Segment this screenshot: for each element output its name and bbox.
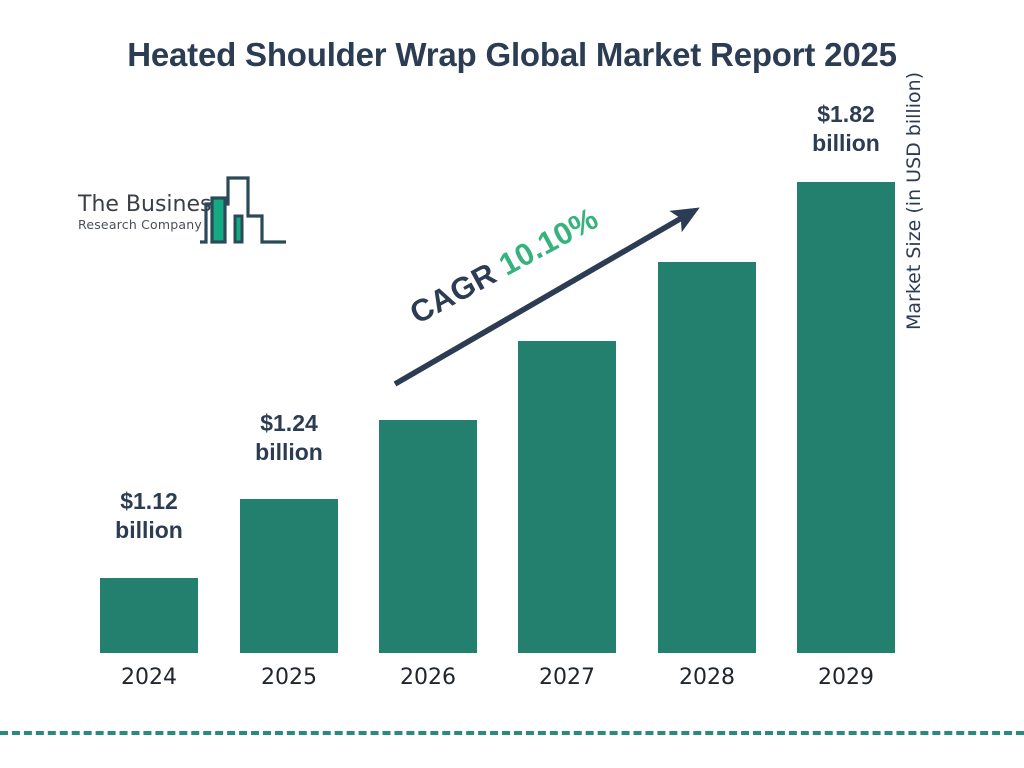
y-axis-title: Market Size (in USD billion) <box>903 0 925 330</box>
logo-line-2: Research Company <box>78 219 206 232</box>
cagr-value: 10.10% <box>493 201 604 283</box>
bar-chart-logo-mark-icon <box>198 176 288 253</box>
bar-value-label-2029: $1.82 billion <box>786 100 906 159</box>
x-axis-label-2028: 2028 <box>657 665 757 690</box>
cagr-label: CAGR <box>404 256 502 331</box>
x-axis-label-2024: 2024 <box>99 665 199 690</box>
x-axis-label-2025: 2025 <box>239 665 339 690</box>
bar-value-label-2024: $1.12 billion <box>89 487 209 546</box>
logo-line-1: The Business <box>78 194 206 216</box>
chart-canvas: Heated Shoulder Wrap Global Market Repor… <box>0 0 1024 768</box>
bar-2029 <box>797 182 895 653</box>
bottom-divider <box>0 731 1024 735</box>
x-axis-label-2029: 2029 <box>796 665 896 690</box>
bar-2024 <box>100 578 198 653</box>
bar-2027 <box>518 341 616 653</box>
bar-2026 <box>379 420 477 653</box>
page-title: Heated Shoulder Wrap Global Market Repor… <box>92 34 932 76</box>
bar-2028 <box>658 262 756 653</box>
cagr-annotation: CAGR 10.10% <box>404 201 604 332</box>
x-axis-label-2027: 2027 <box>517 665 617 690</box>
logo-wordmark: The Business Research Company <box>78 194 206 232</box>
bar-2025 <box>240 499 338 653</box>
brand-logo: The Business Research Company <box>78 176 288 248</box>
bar-value-label-2025: $1.24 billion <box>229 409 349 468</box>
x-axis-label-2026: 2026 <box>378 665 478 690</box>
